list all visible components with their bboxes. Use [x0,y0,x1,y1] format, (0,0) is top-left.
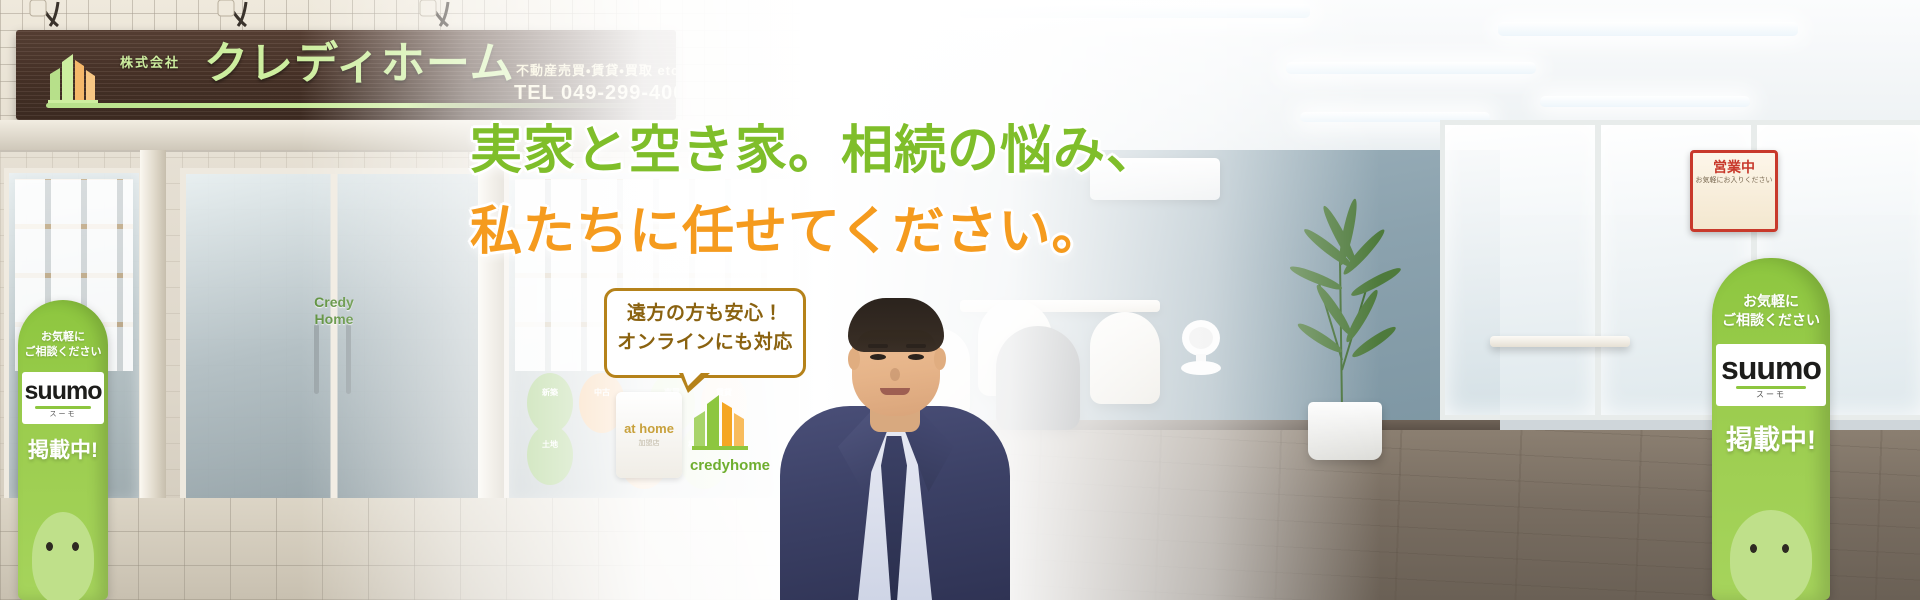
person-hair [848,298,944,352]
person-eye-left [870,354,886,360]
sign-company-prefix: 株式会社 [120,56,180,69]
ceiling-light-tube [1498,22,1798,36]
door-brand-line2: Home [314,311,354,328]
interior-window [1440,120,1600,420]
suumo-right-top-line2: ご相談ください [1712,311,1830,330]
suumo-character-icon [1730,510,1812,600]
building-logo-icon [46,48,112,104]
suumo-left-top-line1: お気軽に [18,330,108,345]
potted-plant [1270,170,1420,460]
sign-company-name: クレディホーム [204,42,515,86]
suumo-left-status: 掲載中! [18,434,108,464]
suumo-right-wordmark: suumo [1716,352,1826,384]
suumo-left-kana: スーモ [22,409,104,419]
speech-bubble-tail [679,373,710,393]
fan-shape [1175,318,1227,376]
suumo-right-top-line1: お気軽に [1712,292,1830,311]
suumo-character-eye [1750,544,1757,553]
open-sign-label: 営業中 [1693,153,1775,175]
speech-bubble: 遠方の方も安心！ オンラインにも対応 [604,288,806,378]
sidewalk-tiles [0,498,800,600]
entrance-doors: Credy Home [180,168,488,510]
suumo-banner-right: お気軽に ご相談ください suumo スーモ 掲載中! [1712,258,1830,600]
suumo-right-kana: スーモ [1716,389,1826,400]
person-eyebrow-right [906,344,926,348]
sign-hanger-wires [0,0,660,30]
suumo-left-wordmark: suumo [22,379,104,404]
suumo-character-eye [1782,544,1789,553]
sign-tel-text: TEL 049-299-4000 [514,82,676,105]
speech-bubble-text: 遠方の方も安心！ オンラインにも対応 [607,291,803,357]
suumo-banner-left: お気軽に ご相談ください suumo スーモ 掲載中! [18,300,108,600]
suumo-character-eye [72,542,79,551]
door-handle-right [346,324,351,394]
suumo-character-eye [46,542,53,551]
suumo-right-wordmark-panel: suumo スーモ [1716,344,1826,406]
circulator-fan [1175,318,1227,376]
shop-signboard: 株式会社 クレディホーム 不動産売買・賃貸・買取 etc. TEL 049-29… [16,30,676,120]
ceiling-light-tube [960,4,1310,18]
meeting-table [1490,336,1630,347]
person-eyebrow-left [868,344,888,348]
plant-pot [1308,402,1382,460]
door-brand-line1: Credy [314,294,354,311]
athome-badge: at home 加盟店 [616,392,682,478]
suumo-left-top-line2: ご相談ください [18,345,108,360]
staff-portrait [780,296,1010,600]
door-handle-left [314,324,319,394]
awning-edge [0,120,800,152]
door-center-frame [331,174,338,504]
speech-bubble-line-2: オンラインにも対応 [615,329,795,358]
sign-underline [46,103,646,108]
open-sign-sub: お気軽にお入りください [1693,175,1775,186]
suumo-left-wordmark-panel: suumo スーモ [22,372,104,424]
window-sticker: 新築 [527,373,573,433]
open-sign: 営業中 お気軽にお入りください [1690,150,1778,232]
suumo-character-icon [32,512,94,600]
door-brand-logo: Credy Home [314,294,354,328]
chair [1090,312,1160,404]
building-logo-icon [689,388,771,450]
window-sticker: 土地 [527,425,573,485]
person-ear-left [848,348,860,370]
person-mouth [880,388,910,395]
person-ear-right [934,348,946,370]
credyhome-brandmark: credyhome [678,388,782,478]
speech-bubble-line-1: 遠方の方も安心！ [615,300,795,329]
suumo-right-status: 掲載中! [1712,418,1830,457]
hero-banner: 株式会社 クレディホーム 不動産売買・賃貸・買取 etc. TEL 049-29… [0,0,1920,600]
air-conditioner [1090,158,1220,200]
sign-services-text: 不動産売買・賃貸・買取 etc. [516,60,676,79]
person-eye-right [908,354,924,360]
athome-badge-title: at home [616,422,682,436]
ceiling-light-tube [1286,62,1536,74]
athome-badge-subtitle: 加盟店 [616,438,682,448]
person-nose [890,368,900,381]
ceiling-light-tube [1540,96,1750,107]
credyhome-name: credyhome [678,457,782,474]
